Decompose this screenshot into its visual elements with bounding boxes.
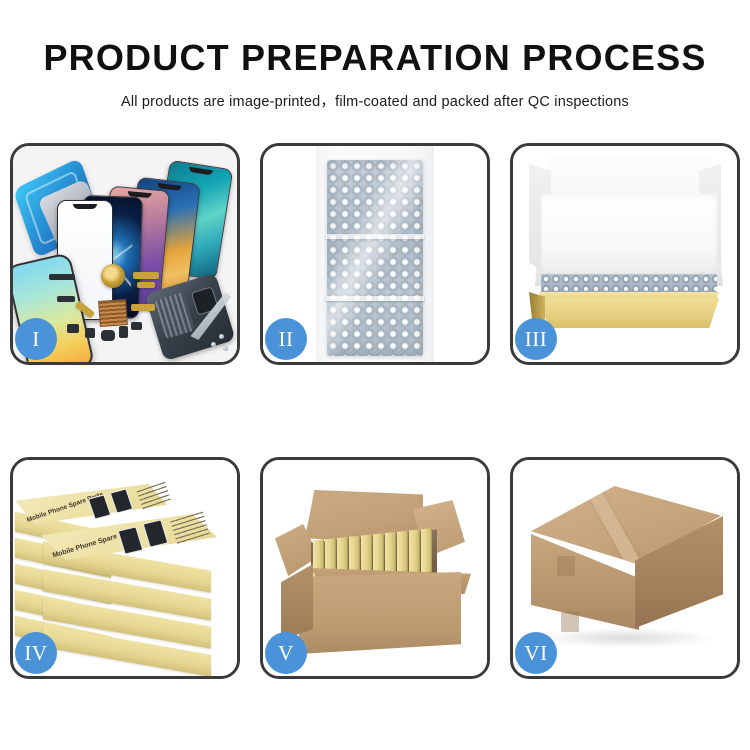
bubble-wrap-highlight xyxy=(327,160,423,356)
bubble-wrap-seam xyxy=(326,234,424,239)
small-part xyxy=(131,322,142,330)
product-preparation-infographic: PRODUCT PREPARATION PROCESS All products… xyxy=(0,0,750,750)
step-badge-2: II xyxy=(265,318,307,360)
step-badge-6: VI xyxy=(515,632,557,674)
carton-handle-tab xyxy=(557,556,575,576)
small-part xyxy=(67,324,79,333)
carton-front-face xyxy=(299,572,461,654)
screw-part xyxy=(223,346,228,351)
carton-side-face xyxy=(281,564,313,640)
process-step-2: II xyxy=(260,143,490,365)
process-step-5: V xyxy=(260,457,490,679)
process-step-grid: I II III xyxy=(10,143,740,679)
copper-coil-part xyxy=(101,264,125,288)
retail-box-in-carton xyxy=(385,532,396,577)
small-part xyxy=(101,330,115,341)
step-badge-4: IV xyxy=(15,632,57,674)
process-step-3: III xyxy=(510,143,740,365)
kraft-box-front xyxy=(531,298,727,328)
process-step-4: Mobile Phone Spare Parts Mobile Phone Sp… xyxy=(10,457,240,679)
screw-part xyxy=(211,342,216,347)
process-step-1: I xyxy=(10,143,240,365)
retail-box-in-carton xyxy=(409,529,420,574)
page-title: PRODUCT PREPARATION PROCESS xyxy=(0,0,750,76)
notch-icon xyxy=(189,167,213,176)
notch-icon xyxy=(73,204,97,209)
carton-shadow xyxy=(539,628,715,648)
step-badge-3: III xyxy=(515,318,557,360)
process-step-6: VI xyxy=(510,457,740,679)
page-subtitle: All products are image-printed，film-coat… xyxy=(0,76,750,111)
flex-cable-part xyxy=(137,282,155,288)
white-foam-padding xyxy=(541,194,717,272)
retail-box-in-carton xyxy=(397,531,408,576)
small-part xyxy=(119,326,128,338)
small-part xyxy=(85,328,95,338)
small-part xyxy=(49,274,75,280)
screw-part xyxy=(219,334,224,339)
step-badge-5: V xyxy=(265,632,307,674)
copper-mesh-part xyxy=(98,299,128,327)
step-badge-1: I xyxy=(15,318,57,360)
small-part xyxy=(57,296,75,302)
flex-cable-part xyxy=(131,304,155,311)
retail-box-in-carton xyxy=(421,528,432,573)
header: PRODUCT PREPARATION PROCESS All products… xyxy=(0,0,750,111)
flex-cable-part xyxy=(133,272,159,279)
bubble-wrap-seam xyxy=(326,296,424,301)
